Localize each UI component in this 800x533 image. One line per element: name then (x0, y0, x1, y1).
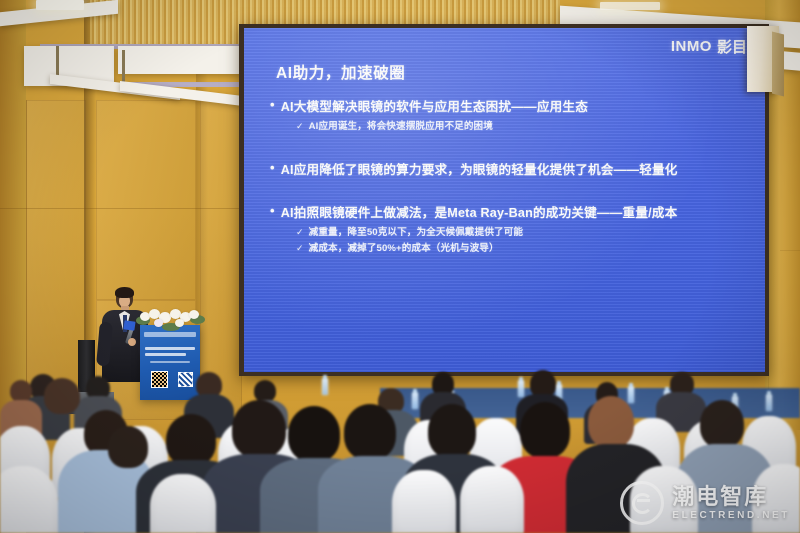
water-bottle (412, 392, 418, 409)
bullet-dot-icon: • (270, 97, 275, 114)
water-bottle (322, 378, 328, 395)
flower (189, 310, 199, 319)
audience-chair (150, 474, 216, 533)
wall-panel (96, 100, 196, 300)
check-icon: ✓ (296, 225, 304, 240)
inmo-brand-logo: INMO 影目 (671, 36, 747, 57)
wall-panel (26, 100, 86, 400)
standee-text-line (150, 361, 190, 363)
wall-seam (780, 250, 800, 251)
wall-seam (0, 208, 242, 209)
check-icon: ✓ (296, 241, 304, 256)
slide-spacer (270, 139, 745, 161)
bullet-text: AI应用降低了眼镜的算力要求，为眼镜的轻量化提供了机会——轻量化 (281, 161, 678, 179)
bullet-sub-list: ✓ AI应用诞生，将会快速摆脱应用不足的困境 (296, 119, 745, 135)
ceiling-light (600, 2, 660, 10)
slide-bullet: • AI拍照眼镜硬件上做减法，是Meta Ray-Ban的成功关键——重量/成本… (270, 204, 745, 258)
bullet-main-row: • AI拍照眼镜硬件上做减法，是Meta Ray-Ban的成功关键——重量/成本 (270, 204, 745, 222)
bullet-text: AI大模型解决眼镜的软件与应用生态困扰——应用生态 (281, 98, 588, 116)
audience-chair (392, 470, 456, 533)
electrend-logo-icon (620, 481, 664, 525)
screenshot-root: INMO 影目 AI助力，加速破圈 • AI大模型解决眼镜的软件与应用生态困扰—… (0, 0, 800, 533)
watermark-en: ELECTREND.NET (672, 511, 790, 521)
slide-bullet: • AI大模型解决眼镜的软件与应用生态困扰——应用生态 ✓ AI应用诞生，将会快… (270, 98, 745, 136)
bullet-dot-icon: • (270, 160, 275, 177)
presentation-slide: INMO 影目 AI助力，加速破圈 • AI大模型解决眼镜的软件与应用生态困扰—… (244, 28, 765, 372)
bullet-dot-icon: • (270, 203, 275, 220)
slide-bullet: • AI应用降低了眼镜的算力要求，为眼镜的轻量化提供了机会——轻量化 (270, 161, 745, 179)
bullet-text: AI拍照眼镜硬件上做减法，是Meta Ray-Ban的成功关键——重量/成本 (281, 204, 678, 222)
bullet-sub-text: 减成本，减掉了50%+的成本（光机与波导） (309, 241, 499, 257)
standee-header-bar (144, 332, 196, 337)
bullet-sub-row: ✓ 减重量，降至50克以下，为全天候佩戴提供了可能 (296, 225, 745, 241)
standee-text-line (145, 347, 195, 350)
audience-chair (460, 466, 524, 533)
presenter-hair (115, 287, 134, 298)
bullet-main-row: • AI应用降低了眼镜的算力要求，为眼镜的轻量化提供了机会——轻量化 (270, 161, 745, 179)
ceiling-light (36, 0, 84, 10)
ceiling-strut (122, 50, 125, 84)
foreground-pillar-side (772, 32, 784, 97)
bullet-sub-text: AI应用诞生，将会快速摆脱应用不足的困境 (309, 119, 493, 135)
water-bottle (628, 386, 634, 403)
logo-mark-text: INMO (671, 38, 712, 55)
standee-text-line (145, 353, 186, 356)
water-bottle (518, 380, 524, 397)
slide-bullet-list: • AI大模型解决眼镜的软件与应用生态困扰——应用生态 ✓ AI应用诞生，将会快… (270, 98, 745, 261)
presenter-hand (128, 338, 136, 346)
water-bottle (766, 394, 772, 411)
watermark: 潮电智库 ELECTREND.NET (620, 481, 790, 525)
watermark-text: 潮电智库 ELECTREND.NET (672, 486, 790, 521)
flower-arrangement (134, 306, 206, 332)
led-presentation-screen: INMO 影目 AI助力，加速破圈 • AI大模型解决眼镜的软件与应用生态困扰—… (244, 28, 765, 372)
bullet-sub-row: ✓ AI应用诞生，将会快速摆脱应用不足的困境 (296, 119, 745, 135)
bullet-sub-text: 减重量，降至50克以下，为全天候佩戴提供了可能 (309, 225, 523, 241)
bullet-sub-row: ✓ 减成本，减掉了50%+的成本（光机与波导） (296, 241, 745, 257)
slide-title: AI助力，加速破圈 (276, 61, 405, 83)
flower (175, 319, 184, 327)
flower (154, 319, 163, 327)
bullet-sub-list: ✓ 减重量，降至50克以下，为全天候佩戴提供了可能 ✓ 减成本，减掉了50%+的… (296, 225, 745, 258)
watermark-cn: 潮电智库 (672, 486, 790, 508)
slide-spacer (270, 182, 745, 204)
check-icon: ✓ (296, 119, 304, 134)
logo-cn-text: 影目 (717, 36, 747, 57)
bullet-main-row: • AI大模型解决眼镜的软件与应用生态困扰——应用生态 (270, 98, 745, 116)
